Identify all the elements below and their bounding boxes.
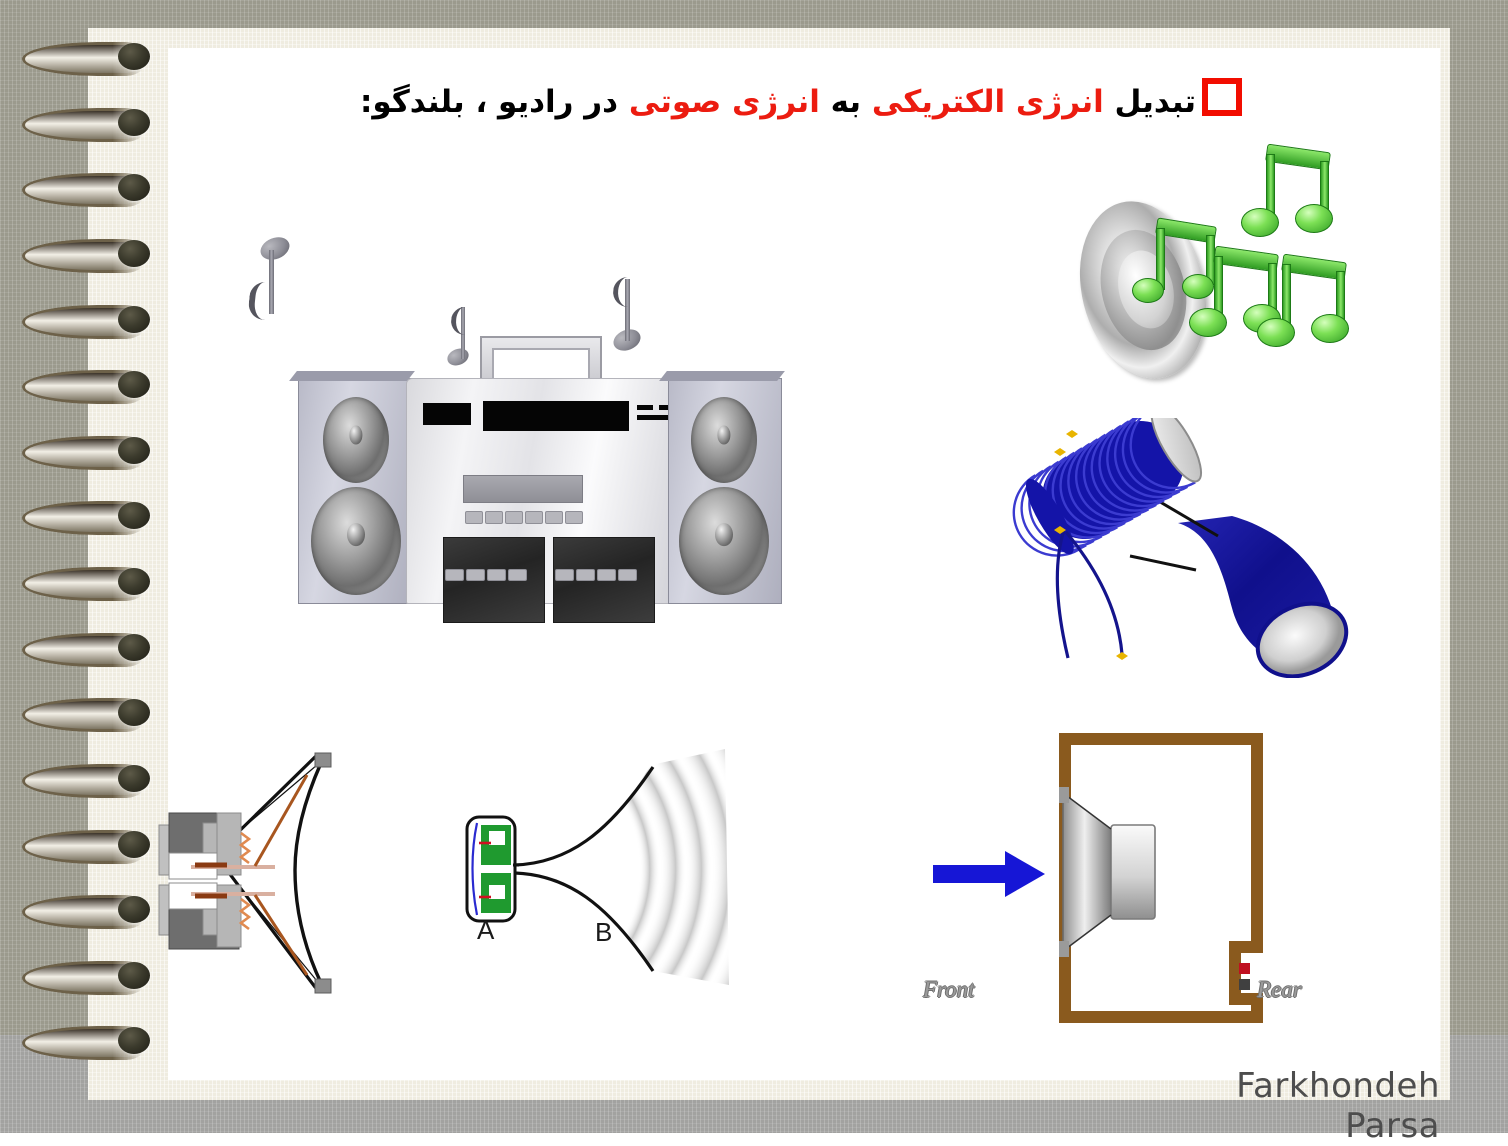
author-signature: Farkhondeh Parsa <box>1140 1066 1440 1114</box>
title-segment-3: به <box>831 84 861 120</box>
boombox-preset-button[interactable] <box>525 511 543 524</box>
title-segment-5: در رادیو ، بلندگو: <box>360 84 618 120</box>
boombox-transport-button[interactable] <box>445 569 464 581</box>
boombox-preset-button[interactable] <box>545 511 563 524</box>
spiral-ring <box>18 1024 168 1058</box>
spiral-ring <box>18 106 168 140</box>
boombox-transport-button[interactable] <box>466 569 485 581</box>
red-square-bullet-icon <box>1202 78 1242 116</box>
boombox-transport-button[interactable] <box>597 569 616 581</box>
spiral-hole <box>118 831 150 858</box>
spiral-ring <box>18 762 168 796</box>
spiral-ring <box>18 499 168 533</box>
spiral-ring <box>18 303 168 337</box>
green-note-pair-4 <box>1252 258 1350 358</box>
boombox-figure <box>298 336 780 616</box>
boombox-preset-button[interactable] <box>565 511 583 524</box>
boombox-right-speaker-panel <box>668 378 782 604</box>
title-segment-4: انرژی صوتی <box>629 84 820 120</box>
boombox-preset-button[interactable] <box>485 511 503 524</box>
boombox-preset-button[interactable] <box>505 511 523 524</box>
boombox-tuning-dial[interactable] <box>463 475 583 503</box>
spiral-hole <box>118 371 150 398</box>
wavefront-svg <box>455 725 755 1010</box>
boombox-transport-button[interactable] <box>487 569 506 581</box>
spiral-hole <box>118 962 150 989</box>
boombox-led-1 <box>637 405 653 410</box>
boombox-transport-button[interactable] <box>508 569 527 581</box>
boombox-indicator-small <box>423 403 471 425</box>
title-segment-2: انرژی الکتریکی <box>872 84 1104 120</box>
spiral-hole <box>118 568 150 595</box>
gray-music-note-icon-1 <box>243 238 295 328</box>
boombox-woofer-right <box>679 487 769 595</box>
spiral-hole <box>118 437 150 464</box>
green-note-pair-3 <box>1236 148 1334 248</box>
spiral-ring <box>18 368 168 402</box>
boombox-tweeter-right <box>691 397 757 483</box>
page-title: تبدیل انرژی الکتریکی به انرژی صوتی در را… <box>170 78 1432 134</box>
boombox-tweeter-left <box>323 397 389 483</box>
wave-label-a: A <box>477 915 494 946</box>
spiral-ring <box>18 171 168 205</box>
boombox-led-2 <box>637 415 671 420</box>
wave-label-b: B <box>595 917 612 948</box>
spiral-hole <box>118 240 150 267</box>
boombox-transport-button[interactable] <box>576 569 595 581</box>
spiral-ring <box>18 40 168 74</box>
cabinet-rear-label: Rear <box>1257 977 1302 1003</box>
spiral-binding <box>18 40 178 1100</box>
speaker-cabinet-figure: Front Rear <box>905 725 1315 1030</box>
spiral-ring <box>18 237 168 271</box>
spiral-ring <box>18 631 168 665</box>
boombox-preset-button[interactable] <box>465 511 483 524</box>
sound-direction-arrow <box>933 851 1045 897</box>
spiral-hole <box>118 896 150 923</box>
spiral-ring <box>18 893 168 927</box>
spiral-hole <box>118 765 150 792</box>
spiral-ring <box>18 959 168 993</box>
voice-coil-horn-figure <box>1010 418 1360 678</box>
spiral-ring <box>18 434 168 468</box>
boombox-left-speaker-panel <box>298 378 412 604</box>
spiral-ring <box>18 696 168 730</box>
cabinet-front-label: Front <box>923 977 975 1003</box>
boombox-body <box>298 378 780 608</box>
spiral-ring <box>18 828 168 862</box>
spiral-hole <box>118 109 150 136</box>
horn-wavefront-figure: A B <box>455 725 755 1010</box>
spiral-hole <box>118 634 150 661</box>
boombox-woofer-left <box>311 487 401 595</box>
title-segment-1: تبدیل <box>1115 84 1197 120</box>
boombox-control-panel <box>406 378 674 604</box>
cross-section-svg <box>155 735 415 1010</box>
loudspeaker-cross-section-figure <box>155 735 415 1010</box>
boombox-transport-button[interactable] <box>618 569 637 581</box>
boombox-transport-button[interactable] <box>555 569 574 581</box>
spiral-hole <box>118 306 150 333</box>
boombox-display <box>483 401 629 431</box>
spiral-hole <box>118 43 150 70</box>
coil-horn-svg <box>1010 418 1360 678</box>
spiral-ring <box>18 565 168 599</box>
